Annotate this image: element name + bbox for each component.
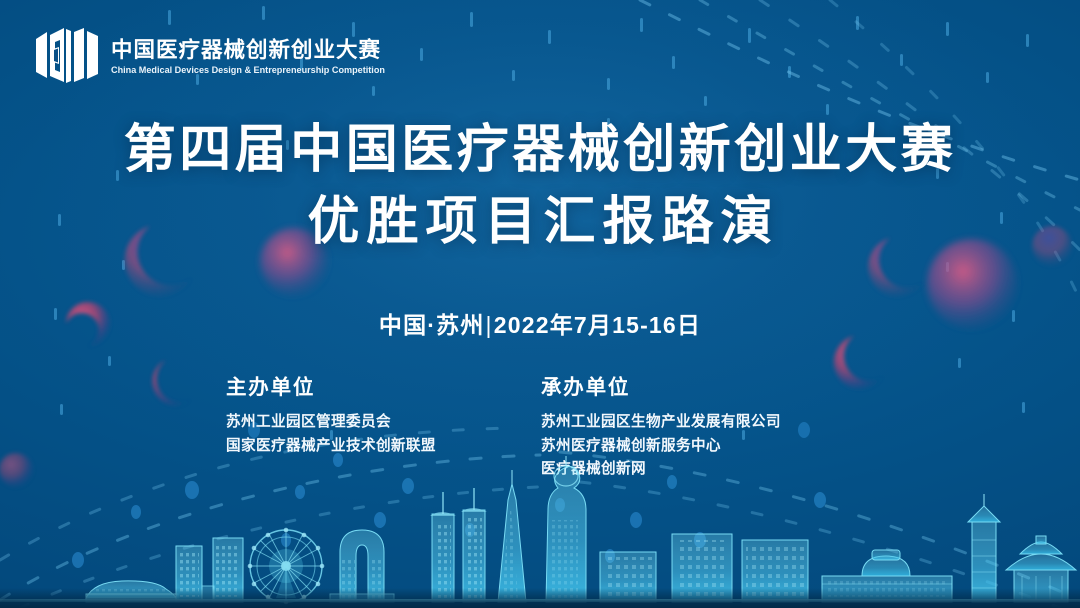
event-poster: 中国医疗器械创新创业大赛 China Medical Devices Desig… — [0, 0, 1080, 608]
bokeh-bubbles-layer — [0, 0, 1080, 608]
gradient-spheres-layer — [0, 0, 1080, 608]
landmark-twin-towers — [430, 488, 487, 602]
bottom-fade — [0, 588, 1080, 608]
landmark-spire-tower — [498, 470, 526, 602]
particle-dashes-layer — [0, 0, 1080, 608]
event-date: 2022年7月15-16日 — [494, 312, 701, 338]
organizer-column-host: 主办单位 苏州工业园区管理委员会 国家医疗器械产业技术创新联盟 — [224, 370, 541, 482]
title-line-2: 优胜项目汇报路演 — [0, 194, 1080, 250]
open-window-logo-icon — [34, 26, 100, 86]
organizer-item: 苏州工业园区生物产业发展有限公司 — [541, 411, 856, 435]
meta-separator: | — [485, 312, 494, 338]
competition-logo: 中国医疗器械创新创业大赛 China Medical Devices Desig… — [34, 26, 388, 86]
organizer-item: 国家医疗器械产业技术创新联盟 — [226, 435, 541, 459]
event-meta-line: 中国·苏州|2022年7月15-16日 — [0, 306, 1080, 340]
organizer-item: 苏州工业园区管理委员会 — [226, 411, 541, 435]
logo-text-block: 中国医疗器械创新创业大赛 China Medical Devices Desig… — [111, 36, 388, 77]
title-line-1: 第四届中国医疗器械创新创业大赛 — [0, 122, 1080, 178]
organizer-heading: 主办单位 — [226, 370, 541, 400]
poster-title: 第四届中国医疗器械创新创业大赛 优胜项目汇报路演 — [0, 122, 1080, 250]
organizers-section: 主办单位 苏州工业园区管理委员会 国家医疗器械产业技术创新联盟 承办单位 苏州工… — [0, 370, 1080, 482]
organizer-item: 苏州医疗器械创新服务中心 — [541, 435, 856, 459]
organizer-heading: 承办单位 — [541, 370, 856, 400]
dotted-arc-layer — [0, 0, 1080, 608]
event-location: 中国·苏州 — [379, 312, 485, 338]
landmark-pagoda — [968, 494, 1000, 602]
logo-title-cn: 中国医疗器械创新创业大赛 — [111, 38, 388, 62]
organizer-column-coorganizer: 承办单位 苏州工业园区生物产业发展有限公司 苏州医疗器械创新服务中心 医疗器械创… — [541, 370, 856, 482]
logo-title-en: China Medical Devices Design & Entrepren… — [111, 65, 385, 77]
organizer-item: 医疗器械创新网 — [541, 458, 856, 482]
